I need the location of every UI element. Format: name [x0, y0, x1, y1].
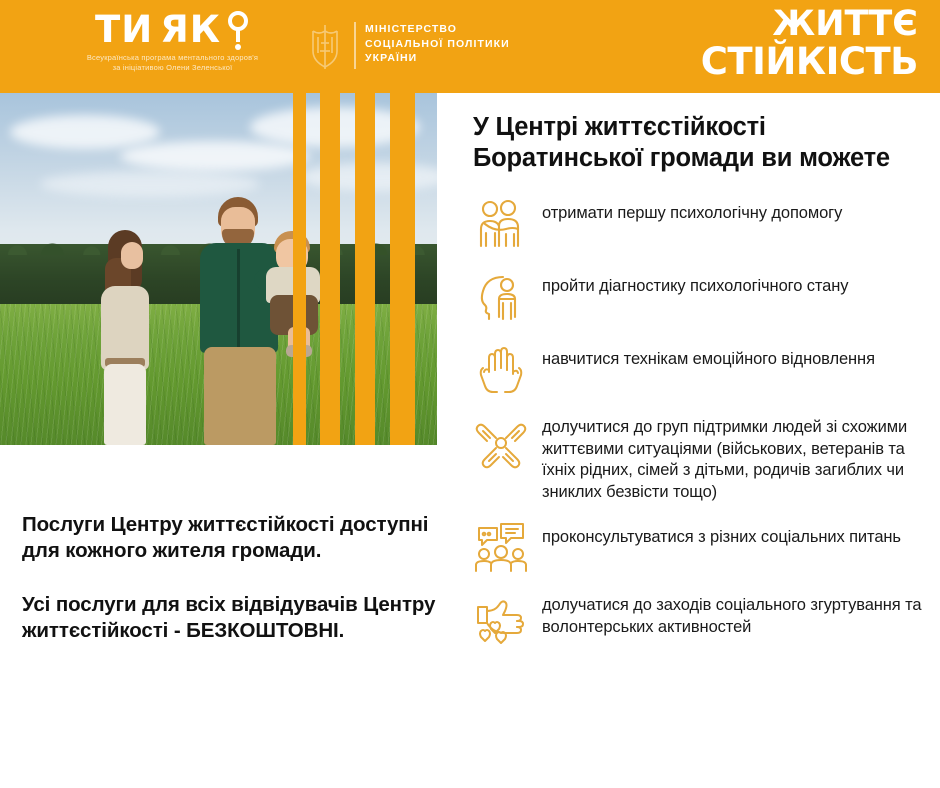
benefit-text: долучатися до заходів соціального згурту…	[542, 593, 923, 638]
family-in-field-photo	[0, 93, 437, 445]
logo-subtitle: Всеукраїнська програма ментального здоро…	[55, 53, 290, 73]
benefit-text: отримати першу психологічну допомогу	[542, 196, 842, 225]
photo-child	[258, 231, 330, 353]
logo-word-1: ТИ	[95, 10, 153, 50]
ty-yak-logo: ТИ ЯК Всеукраїнська програма ментального…	[55, 10, 290, 73]
logo-subtitle-line-1: Всеукраїнська програма ментального здоро…	[55, 53, 290, 63]
brand-line-2: СТІЙКІСТЬ	[701, 43, 918, 80]
logo-subtitle-line-2: за ініціативою Олени Зеленської	[55, 63, 290, 73]
ministry-line-3: УКРАЇНИ	[365, 51, 510, 66]
benefit-text: долучитися до груп підтримки людей зі сх…	[542, 415, 923, 503]
benefit-item: долучитися до груп підтримки людей зі сх…	[473, 415, 923, 503]
four-hands-together-icon	[473, 415, 529, 471]
ministry-logo: МІНІСТЕРСТВО СОЦІАЛЬНОЇ ПОЛІТИКИ УКРАЇНИ	[305, 21, 510, 73]
benefit-item: долучатися до заходів соціального згурту…	[473, 593, 923, 649]
services-paragraph-1: Послуги Центру життєстійкості доступні д…	[22, 512, 452, 564]
logo-word-2: ЯК	[160, 10, 221, 50]
head-profile-person-icon	[473, 269, 529, 325]
page-title: У Центрі життєстійкості Боратинської гро…	[473, 112, 923, 174]
hand-hearts-icon	[473, 593, 529, 649]
logo-wordmark: ТИ ЯК	[55, 10, 290, 50]
ministry-text: МІНІСТЕРСТВО СОЦІАЛЬНОЇ ПОЛІТИКИ УКРАЇНИ	[365, 21, 510, 66]
poster-root: ТИ ЯК Всеукраїнська програма ментального…	[0, 0, 940, 788]
photo-woman	[95, 230, 157, 445]
speech-bubbles-group-icon	[473, 520, 529, 576]
services-paragraph-2: Усі послуги для всіх відвідувачів Центру…	[22, 592, 452, 644]
question-mark-icon	[228, 11, 250, 49]
benefit-item: пройти діагностику психологічного стану	[473, 269, 923, 325]
open-hands-icon	[473, 342, 529, 398]
ministry-line-2: СОЦІАЛЬНОЇ ПОЛІТИКИ	[365, 37, 510, 52]
header-bar: ТИ ЯК Всеукраїнська програма ментального…	[0, 0, 940, 93]
benefit-item: навчитися технікам емоційного відновленн…	[473, 342, 923, 398]
benefit-item: проконсультуватися з різних соціальних п…	[473, 520, 923, 576]
ukraine-trident-emblem-icon	[305, 21, 345, 73]
brand-line-1: ЖИТТЄ	[701, 6, 918, 43]
benefit-text: пройти діагностику психологічного стану	[542, 269, 848, 298]
ministry-line-1: МІНІСТЕРСТВО	[365, 22, 510, 37]
benefit-text: навчитися технікам емоційного відновленн…	[542, 342, 875, 371]
services-info-block: Послуги Центру життєстійкості доступні д…	[22, 512, 452, 644]
ministry-divider	[354, 22, 356, 69]
brand-title: ЖИТТЄ СТІЙКІСТЬ	[701, 6, 918, 80]
two-people-supporting-icon	[473, 196, 529, 252]
benefit-item: отримати першу психологічну допомогу	[473, 196, 923, 252]
benefits-panel: У Центрі життєстійкості Боратинської гро…	[473, 112, 923, 666]
benefit-text: проконсультуватися з різних соціальних п…	[542, 520, 901, 549]
